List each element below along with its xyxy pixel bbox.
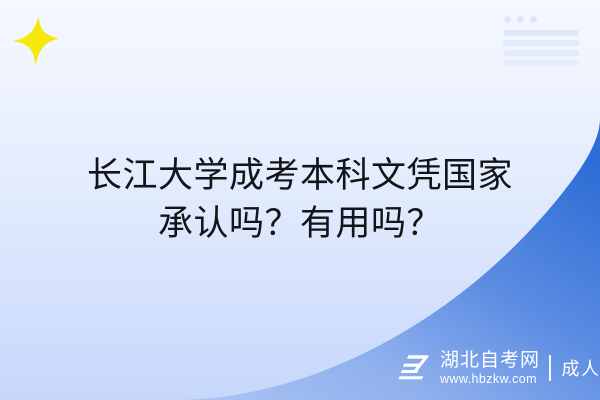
page-title: 长江大学成考本科文凭国家 承认吗？有用吗？	[0, 152, 600, 248]
mockup-dot	[504, 16, 511, 23]
site-logo[interactable]: 湖北自考网 www.hbzkw.com 成人高考	[398, 348, 600, 388]
mockup-lines	[503, 30, 579, 70]
hbzkw-z-mark-icon	[398, 353, 434, 383]
site-logo-text: 湖北自考网 www.hbzkw.com	[440, 351, 540, 386]
poster-canvas: 长江大学成考本科文凭国家 承认吗？有用吗？ 湖北自考网 www.hbzkw.co…	[0, 0, 600, 400]
mockup-dot	[530, 16, 537, 23]
mockup-line	[503, 40, 579, 46]
mockup-line	[503, 60, 579, 66]
mockup-dot	[517, 16, 524, 23]
sparkle-star-icon	[12, 16, 60, 66]
browser-window-mockup-icon	[496, 6, 588, 72]
site-name: 湖北自考网	[440, 351, 540, 370]
mockup-line	[503, 50, 579, 56]
logo-divider	[549, 355, 551, 381]
mockup-dots	[504, 16, 537, 23]
site-url: www.hbzkw.com	[440, 373, 540, 386]
mockup-line	[503, 30, 579, 36]
category-label: 成人高考	[562, 355, 600, 381]
